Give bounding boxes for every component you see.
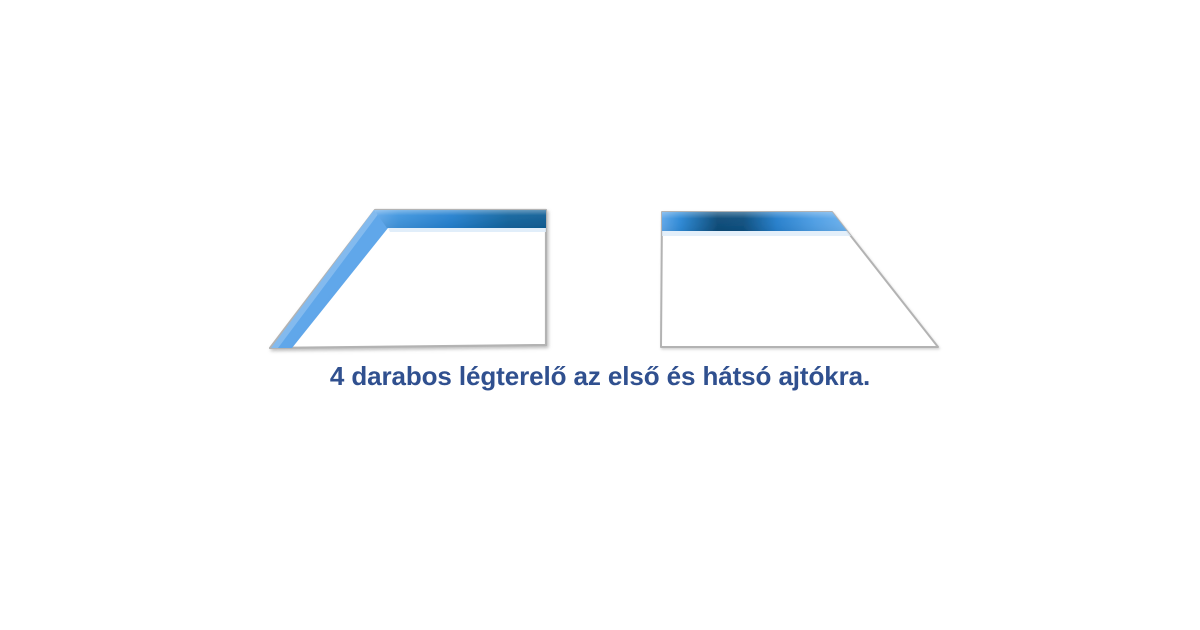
caption-text: 4 darabos légterelő az első és hátsó ajt…	[0, 360, 1200, 392]
rear-door-deflector-shape	[661, 212, 938, 347]
front-door-deflector-top-band-shading	[374, 210, 546, 228]
front-door-deflector-band-underline	[388, 228, 546, 232]
illustration-canvas: 4 darabos légterelő az első és hátsó ajt…	[0, 0, 1200, 630]
front-door-deflector-shape	[270, 210, 546, 348]
rear-door-deflector-band-underline	[662, 231, 851, 236]
rear-door-deflector-top-band-shading	[662, 212, 847, 231]
car-window-deflector-pair-illustration	[0, 0, 1200, 630]
